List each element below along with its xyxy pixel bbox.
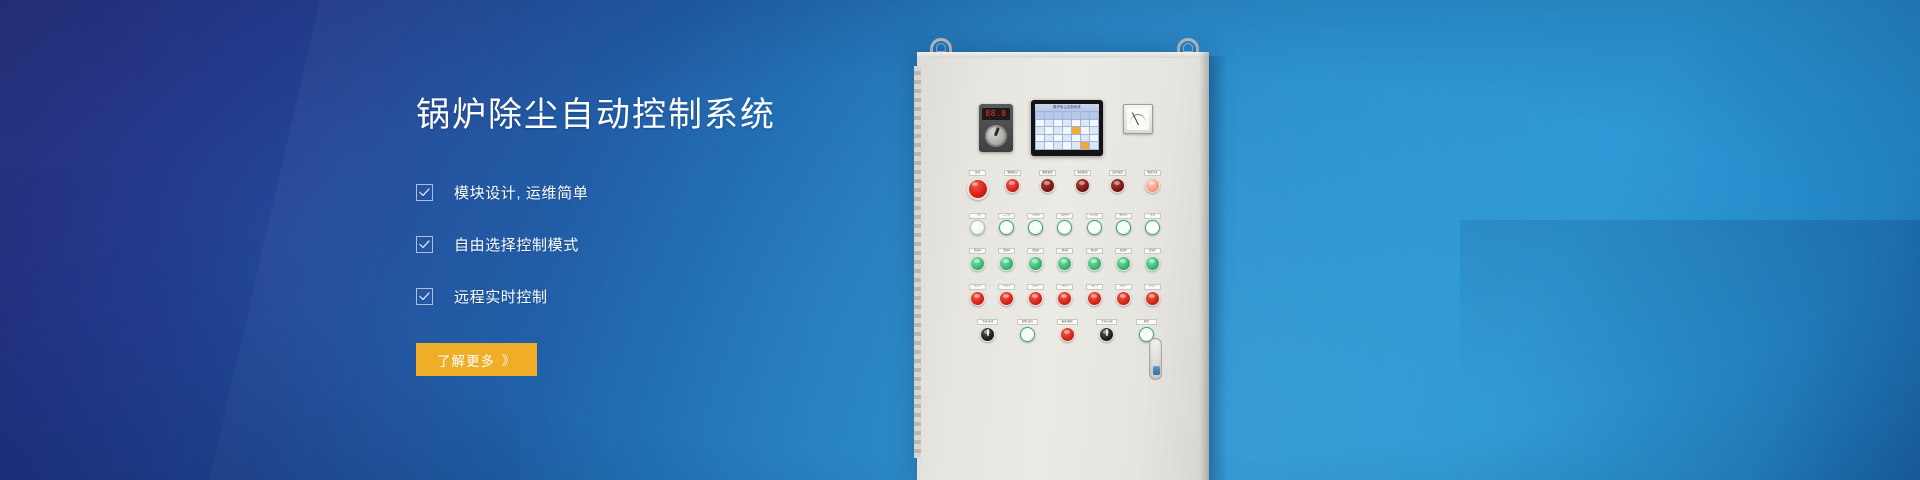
- start-button-2[interactable]: 启动2: [994, 248, 1019, 271]
- button-label-tag: 运行报警: [1109, 170, 1126, 176]
- learn-more-button[interactable]: 了解更多 》: [416, 343, 537, 376]
- button-label: 启动4: [1062, 250, 1069, 253]
- stop-button-4[interactable]: 停止4: [1052, 284, 1077, 307]
- selector-knob-icon[interactable]: [980, 327, 995, 342]
- power-switch-lamp[interactable]: 电源开关: [1140, 170, 1165, 200]
- button-label-tag: 停止2: [998, 284, 1015, 290]
- dark-red-lamp-icon[interactable]: [1075, 178, 1090, 193]
- green-button-icon[interactable]: [1087, 256, 1102, 271]
- button-label-tag: 停止7: [1144, 284, 1161, 290]
- list-item: 自由选择控制模式: [416, 228, 886, 261]
- button-label: 停止2: [1003, 285, 1010, 288]
- water-pump-lamp[interactable]: 水泵: [1140, 213, 1165, 236]
- hmi-screen-title: 锅炉除尘控制系统: [1035, 104, 1099, 111]
- button-label-tag: 启动1: [969, 248, 986, 254]
- cabinet-right-edge: [1199, 52, 1209, 480]
- control-cabinet-image: 88.8 锅炉除尘控制系统: [905, 0, 1920, 480]
- stop-button-5[interactable]: 停止5: [1082, 284, 1107, 307]
- green-button-icon[interactable]: [970, 256, 985, 271]
- button-label: 停止7: [1149, 285, 1156, 288]
- green-ring-lamp-icon[interactable]: [1028, 220, 1043, 235]
- cabinet-top-edge: [917, 52, 1209, 58]
- chevron-right-icon: 》: [502, 350, 516, 369]
- start-button-5[interactable]: 启动5: [1082, 248, 1107, 271]
- button-label: 超温报警: [1077, 172, 1087, 175]
- feature-label: 自由选择控制模式: [454, 234, 579, 255]
- start-button-4[interactable]: 启动4: [1052, 248, 1077, 271]
- green-button-icon[interactable]: [1145, 256, 1160, 271]
- emergency-stop-mushroom-icon[interactable]: [967, 178, 989, 200]
- vfd-rotary-knob-icon[interactable]: [985, 125, 1007, 147]
- button-label-tag: 停止3: [1027, 284, 1044, 290]
- white-lamp-icon[interactable]: [970, 220, 985, 235]
- button-label: 急停: [975, 172, 980, 175]
- button-label: 就地 远程: [1022, 321, 1033, 324]
- button-label: 电源指示: [1007, 172, 1017, 175]
- green-ring-lamp-icon[interactable]: [1116, 220, 1131, 235]
- vfd-controller[interactable]: 88.8: [979, 104, 1013, 152]
- button-label-tag: 手动 自动: [1096, 319, 1117, 325]
- button-label-tag: 急停: [969, 170, 986, 176]
- button-label-tag: 停止6: [1115, 284, 1132, 290]
- page-title: 锅炉除尘自动控制系统: [416, 98, 886, 132]
- button-label: 启动7: [1149, 250, 1156, 253]
- button-label: 联锁 解除: [1061, 321, 1072, 324]
- button-label: 一号炉: [974, 214, 982, 217]
- button-label: 除尘器: [1090, 214, 1098, 217]
- button-label: 电源开关: [1147, 172, 1157, 175]
- button-label-tag: 启动7: [1144, 248, 1161, 254]
- dark-red-lamp-icon[interactable]: [1110, 178, 1125, 193]
- learn-more-label: 了解更多: [437, 350, 495, 370]
- button-label-tag: 停止4: [1056, 284, 1073, 290]
- dark-red-lamp-icon[interactable]: [1040, 178, 1055, 193]
- button-label-tag: 复位: [1136, 319, 1157, 325]
- interlock-selector[interactable]: 联锁 解除: [1055, 319, 1080, 342]
- hmi-screen[interactable]: 锅炉除尘控制系统: [1035, 104, 1099, 150]
- button-label: 启动6: [1120, 250, 1127, 253]
- boiler-1-lamp[interactable]: 一号炉: [965, 213, 990, 236]
- red-button-icon[interactable]: [1087, 291, 1102, 306]
- button-panel: 急停 电源指示 故障报警 超温报警: [965, 170, 1165, 355]
- button-label: 复位: [1144, 321, 1149, 324]
- button-label: 启动2: [1003, 250, 1010, 253]
- induced-fan-lamp[interactable]: 引风机: [1023, 213, 1048, 236]
- green-button-icon[interactable]: [1057, 256, 1072, 271]
- green-button-icon[interactable]: [999, 256, 1014, 271]
- button-label-tag: 超温报警: [1074, 170, 1091, 176]
- green-ring-lamp-icon[interactable]: [1145, 220, 1160, 235]
- manual-auto-selector-1[interactable]: 手动 自动: [975, 319, 1000, 342]
- hmi-data-table: [1035, 111, 1099, 150]
- button-label-tag: 手动 自动: [977, 319, 998, 325]
- button-label-tag: 启动6: [1115, 248, 1132, 254]
- button-label: 手动 自动: [982, 321, 993, 324]
- button-label: 输灰机: [1119, 214, 1127, 217]
- red-button-icon[interactable]: [1060, 327, 1075, 342]
- banner-copy: 锅炉除尘自动控制系统 模块设计, 运维简单 自由选择控制模式 远程实: [416, 98, 886, 376]
- red-button-icon[interactable]: [1057, 291, 1072, 306]
- button-label-tag: 鼓风机: [1056, 213, 1073, 219]
- red-button-icon[interactable]: [1116, 291, 1131, 306]
- button-label: 停止5: [1091, 285, 1098, 288]
- button-label-tag: 启动4: [1056, 248, 1073, 254]
- over-temp-alarm-lamp[interactable]: 超温报警: [1070, 170, 1095, 200]
- button-label: 运行报警: [1112, 172, 1122, 175]
- stop-button-7[interactable]: 停止7: [1140, 284, 1165, 307]
- green-button-icon[interactable]: [1116, 256, 1131, 271]
- dust-collector-lamp[interactable]: 除尘器: [1082, 213, 1107, 236]
- analog-meter: [1123, 104, 1153, 134]
- green-ring-lamp-icon[interactable]: [1020, 327, 1035, 342]
- cabinet-body: 88.8 锅炉除尘控制系统: [917, 52, 1209, 480]
- feature-label: 远程实时控制: [454, 286, 548, 307]
- pink-lamp-icon[interactable]: [1145, 178, 1160, 193]
- button-label: 停止3: [1032, 285, 1039, 288]
- red-button-icon[interactable]: [970, 291, 985, 306]
- emergency-stop-button[interactable]: 急停: [965, 170, 990, 200]
- checkbox-checked-icon: [416, 236, 433, 253]
- button-label: 鼓风机: [1061, 214, 1069, 217]
- manual-auto-selector-2[interactable]: 手动 自动: [1094, 319, 1119, 342]
- list-item: 远程实时控制: [416, 280, 886, 313]
- vfd-display: 88.8: [982, 108, 1010, 120]
- stop-button-6[interactable]: 停止6: [1111, 284, 1136, 307]
- vfd-display-value: 88.8: [985, 110, 1006, 118]
- button-label-tag: 输灰机: [1115, 213, 1132, 219]
- power-indicator-lamp[interactable]: 电源指示: [1000, 170, 1025, 200]
- button-label-tag: 电源开关: [1144, 170, 1161, 176]
- green-button-icon[interactable]: [1028, 256, 1043, 271]
- button-label-tag: 启动2: [998, 248, 1015, 254]
- button-label-tag: 除尘器: [1086, 213, 1103, 219]
- checkbox-checked-icon: [416, 184, 433, 201]
- start-button-1[interactable]: 启动1: [965, 248, 990, 271]
- red-button-icon[interactable]: [1145, 291, 1160, 306]
- button-label: 停止1: [974, 285, 981, 288]
- button-label: 水泵: [1150, 214, 1155, 217]
- button-label: 启动5: [1091, 250, 1098, 253]
- red-button-icon[interactable]: [1028, 291, 1043, 306]
- button-label-tag: 水泵: [1144, 213, 1161, 219]
- feature-label: 模块设计, 运维简单: [454, 182, 588, 203]
- button-label: 手动 自动: [1101, 321, 1112, 324]
- button-label-tag: 启动3: [1027, 248, 1044, 254]
- hmi-touchscreen[interactable]: 锅炉除尘控制系统: [1031, 100, 1103, 156]
- button-row: 手动 自动 就地 远程 联锁 解除 手动 自动: [965, 319, 1165, 342]
- cabinet-hinge: [914, 66, 921, 458]
- ash-conveyor-lamp[interactable]: 输灰机: [1111, 213, 1136, 236]
- green-ring-lamp-icon[interactable]: [999, 220, 1014, 235]
- start-button-6[interactable]: 启动6: [1111, 248, 1136, 271]
- button-label: 启动3: [1032, 250, 1039, 253]
- button-label: 故障报警: [1042, 172, 1052, 175]
- button-row: 启动1 启动2 启动3 启动4: [965, 248, 1165, 271]
- button-label: 二号炉: [1003, 214, 1011, 217]
- meter-needle-icon: [1132, 112, 1139, 125]
- button-label: 引风机: [1032, 214, 1040, 217]
- run-alarm-lamp[interactable]: 运行报警: [1105, 170, 1130, 200]
- button-label-tag: 二号炉: [998, 213, 1015, 219]
- green-ring-lamp-icon[interactable]: [1087, 220, 1102, 235]
- button-label-tag: 引风机: [1027, 213, 1044, 219]
- start-button-7[interactable]: 启动7: [1140, 248, 1165, 271]
- button-label-tag: 一号炉: [969, 213, 986, 219]
- feature-list: 模块设计, 运维简单 自由选择控制模式 远程实时控制: [416, 176, 886, 313]
- fault-alarm-lamp[interactable]: 故障报警: [1035, 170, 1060, 200]
- button-row: 停止1 停止2 停止3 停止4: [965, 284, 1165, 307]
- meter-face: [1127, 108, 1149, 130]
- button-label: 停止6: [1120, 285, 1127, 288]
- button-label-tag: 故障报警: [1039, 170, 1056, 176]
- list-gap: [416, 209, 886, 228]
- button-label-tag: 启动5: [1086, 248, 1103, 254]
- hmi-title-text: 锅炉除尘控制系统: [1053, 106, 1081, 109]
- button-label-tag: 停止1: [969, 284, 986, 290]
- red-lamp-icon[interactable]: [1005, 178, 1020, 193]
- stop-button-1[interactable]: 停止1: [965, 284, 990, 307]
- hero-banner: 锅炉除尘自动控制系统 模块设计, 运维简单 自由选择控制模式 远程实: [0, 0, 1920, 480]
- button-label: 启动1: [974, 250, 981, 253]
- green-ring-lamp-icon[interactable]: [1057, 220, 1072, 235]
- checkbox-checked-icon: [416, 288, 433, 305]
- blower-fan-lamp[interactable]: 鼓风机: [1052, 213, 1077, 236]
- button-label: 停止4: [1062, 285, 1069, 288]
- stop-button-3[interactable]: 停止3: [1023, 284, 1048, 307]
- list-gap: [416, 261, 886, 280]
- boiler-2-lamp[interactable]: 二号炉: [994, 213, 1019, 236]
- red-button-icon[interactable]: [999, 291, 1014, 306]
- button-label-tag: 联锁 解除: [1057, 319, 1078, 325]
- list-item: 模块设计, 运维简单: [416, 176, 886, 209]
- local-remote-selector[interactable]: 就地 远程: [1015, 319, 1040, 342]
- button-row: 急停 电源指示 故障报警 超温报警: [965, 170, 1165, 200]
- start-button-3[interactable]: 启动3: [1023, 248, 1048, 271]
- button-label-tag: 就地 远程: [1017, 319, 1038, 325]
- door-handle[interactable]: [1149, 338, 1162, 380]
- button-label-tag: 电源指示: [1004, 170, 1021, 176]
- button-row: 一号炉 二号炉 引风机 鼓风机: [965, 213, 1165, 236]
- button-label-tag: 停止5: [1086, 284, 1103, 290]
- selector-knob-icon[interactable]: [1099, 327, 1114, 342]
- stop-button-2[interactable]: 停止2: [994, 284, 1019, 307]
